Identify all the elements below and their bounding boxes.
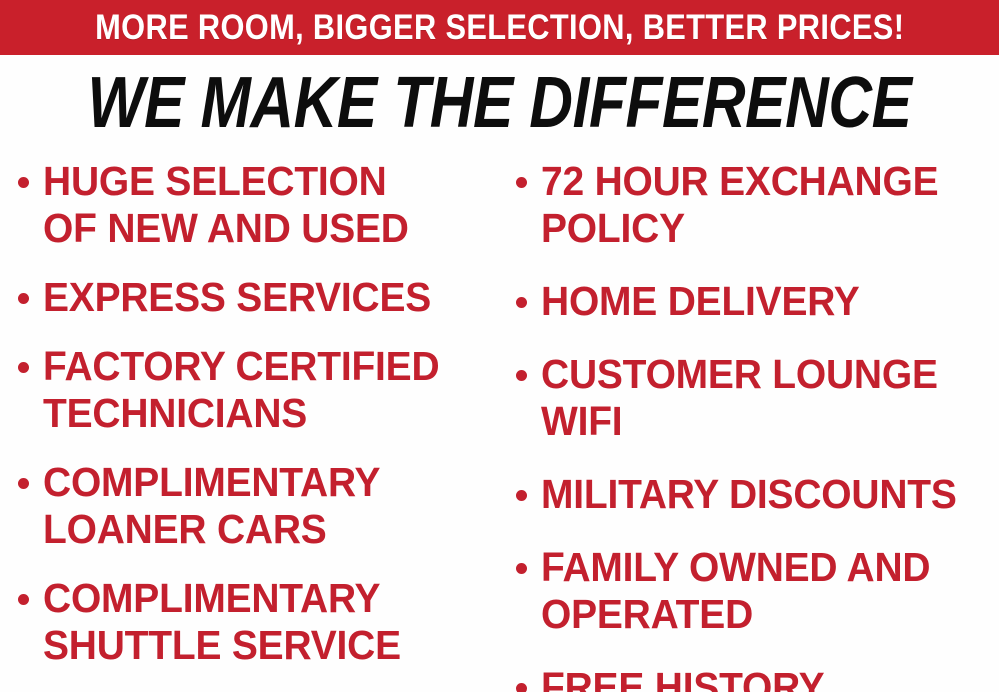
headline-container: WE MAKE THE DIFFERENCE [0, 66, 999, 140]
list-item: FACTORY CERTIFIED TECHNICIANS [18, 343, 496, 437]
bullet-dot-icon [18, 177, 29, 188]
bullet-dot-icon [516, 683, 527, 692]
list-item-label: COMPLIMENTARY LOANER CARS [43, 459, 380, 553]
list-item: COMPLIMENTARY LOANER CARS [18, 459, 496, 553]
page-title: WE MAKE THE DIFFERENCE [87, 67, 911, 139]
bullet-dot-icon [18, 293, 29, 304]
bullet-dot-icon [516, 370, 527, 381]
list-item: 72 HOUR EXCHANGE POLICY [516, 158, 996, 252]
list-item-label: HOME DELIVERY [541, 278, 860, 325]
bullet-dot-icon [18, 478, 29, 489]
top-banner-text: MORE ROOM, BIGGER SELECTION, BETTER PRIC… [95, 10, 904, 45]
top-banner: MORE ROOM, BIGGER SELECTION, BETTER PRIC… [0, 0, 999, 55]
list-item: CUSTOMER LOUNGE WIFI [516, 351, 996, 445]
list-item-label: MILITARY DISCOUNTS [541, 471, 957, 518]
promo-banner-page: MORE ROOM, BIGGER SELECTION, BETTER PRIC… [0, 0, 999, 692]
list-item: FAMILY OWNED AND OPERATED [516, 544, 996, 638]
bullet-dot-icon [516, 563, 527, 574]
list-item-label: FREE HISTORY REPORTS [541, 664, 824, 692]
list-item-label: CUSTOMER LOUNGE WIFI [541, 351, 938, 445]
bullet-dot-icon [516, 490, 527, 501]
list-item-label: 72 HOUR EXCHANGE POLICY [541, 158, 938, 252]
list-item-label: HUGE SELECTION OF NEW AND USED [43, 158, 409, 252]
list-item-label: COMPLIMENTARY SHUTTLE SERVICE [43, 575, 401, 669]
list-item: HUGE SELECTION OF NEW AND USED [18, 158, 496, 252]
bullet-dot-icon [18, 362, 29, 373]
list-item: MILITARY DISCOUNTS [516, 471, 996, 518]
bullet-dot-icon [516, 177, 527, 188]
feature-column-right: 72 HOUR EXCHANGE POLICY HOME DELIVERY CU… [516, 158, 996, 692]
list-item: EXPRESS SERVICES [18, 274, 496, 321]
list-item: COMPLIMENTARY SHUTTLE SERVICE [18, 575, 496, 669]
feature-column-left: HUGE SELECTION OF NEW AND USED EXPRESS S… [18, 158, 496, 691]
list-item-label: EXPRESS SERVICES [43, 274, 431, 321]
list-item: HOME DELIVERY [516, 278, 996, 325]
feature-columns: HUGE SELECTION OF NEW AND USED EXPRESS S… [0, 158, 999, 692]
bullet-dot-icon [516, 297, 527, 308]
list-item-label: FAMILY OWNED AND OPERATED [541, 544, 930, 638]
list-item-label: FACTORY CERTIFIED TECHNICIANS [43, 343, 439, 437]
bullet-dot-icon [18, 594, 29, 605]
list-item: FREE HISTORY REPORTS [516, 664, 996, 692]
